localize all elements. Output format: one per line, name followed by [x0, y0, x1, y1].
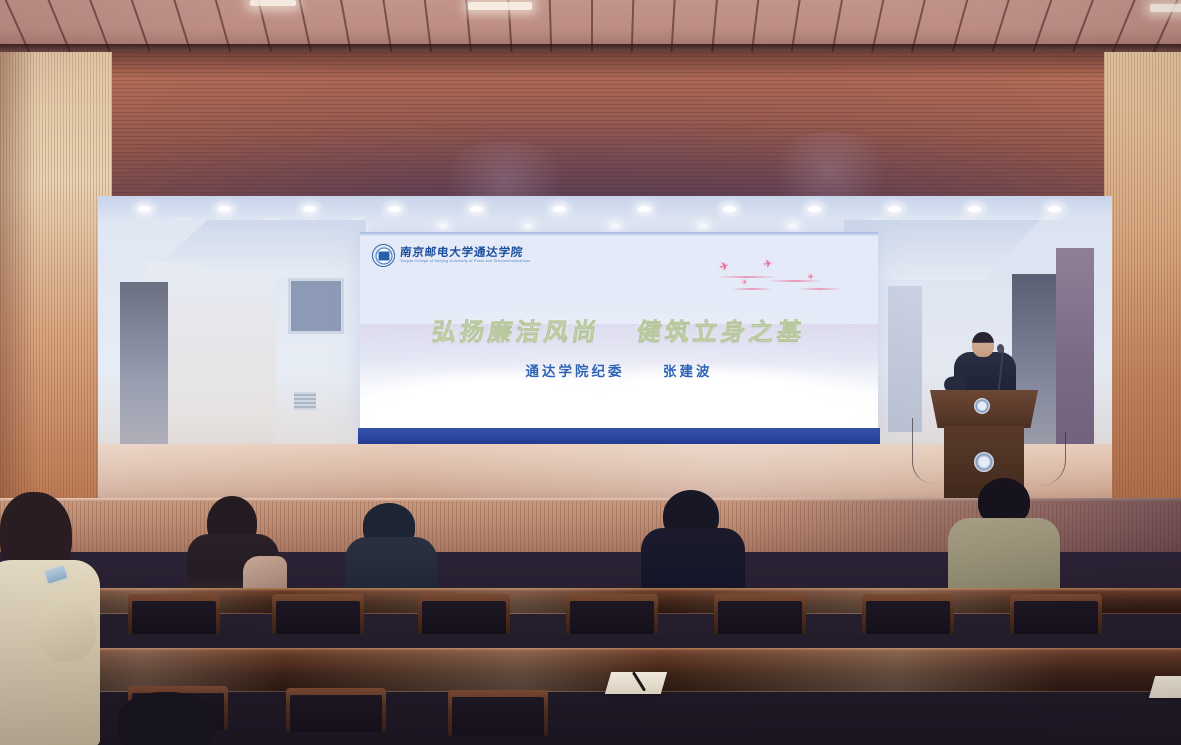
wood-rib [1146, 52, 1147, 522]
wall-groove [0, 180, 1181, 181]
ceiling-spotlight-icon [888, 206, 901, 212]
audio-cable [912, 418, 934, 484]
wood-rib [75, 52, 76, 522]
wall-groove [0, 156, 1181, 157]
wall-groove [0, 68, 1181, 69]
wood-rib [1155, 52, 1156, 522]
attendee-head [118, 692, 214, 745]
slide-institution-logo: 南京邮电大学通达学院 Tongda College of Nanjing Uni… [372, 244, 530, 267]
wood-rib [81, 52, 82, 522]
bird-icon: ✈ [763, 259, 773, 271]
ceiling-spotlight-icon [638, 206, 651, 212]
wood-rib [9, 52, 10, 522]
wall-groove [0, 88, 1181, 89]
wood-rib [0, 52, 1, 522]
podium-area [930, 330, 1040, 500]
wall-groove [0, 116, 1181, 117]
wood-rib [1116, 52, 1117, 522]
wood-rib [45, 52, 46, 522]
screen-base-band [358, 428, 880, 445]
bird-trail [768, 280, 822, 282]
wood-rib [1128, 52, 1129, 522]
wall-groove [0, 140, 1181, 141]
wood-rib [15, 52, 16, 522]
bird-trail [798, 288, 842, 290]
institution-name-en: Tongda College of Nanjing University of … [400, 260, 530, 264]
wood-rib [36, 52, 37, 522]
bird-trail [716, 276, 778, 278]
ceiling-spotlight-icon [470, 206, 483, 212]
wall-groove [0, 132, 1181, 133]
wall-groove [0, 92, 1181, 93]
auditorium-photo: 南京邮电大学通达学院 Tongda College of Nanjing Uni… [0, 0, 1181, 745]
seat-back [1010, 594, 1102, 634]
wood-rib [3, 52, 4, 522]
university-seal-icon [974, 452, 994, 472]
ceiling-spotlight-icon [303, 206, 316, 212]
wood-rib [1179, 52, 1180, 522]
recessed-light-icon [468, 2, 532, 10]
wood-rib [1119, 52, 1120, 522]
wall-groove [0, 188, 1181, 189]
wall-groove [0, 176, 1181, 177]
wood-rib [21, 52, 22, 522]
notebook [1149, 676, 1181, 698]
wall-groove [0, 192, 1181, 193]
ceiling-spotlight-icon [438, 224, 448, 229]
bird-trail [732, 288, 772, 290]
wall-groove [0, 112, 1181, 113]
wall-light-glow [430, 142, 580, 202]
wood-rib [1140, 52, 1141, 522]
wood-rib [51, 52, 52, 522]
wall-groove [0, 136, 1181, 137]
wall-groove [0, 152, 1181, 153]
university-seal-icon [372, 244, 395, 267]
ceiling-spotlight-icon [610, 224, 620, 229]
wood-rib [1113, 52, 1114, 522]
wall-groove [0, 60, 1181, 61]
flying-birds-icon: ✈✈✈✈ [712, 250, 852, 294]
wood-rib [48, 52, 49, 522]
wood-rib [33, 52, 34, 522]
ceiling-spotlight-icon [788, 224, 798, 229]
seat-back [714, 594, 806, 634]
wood-rib [1170, 52, 1171, 522]
wall-groove [0, 56, 1181, 57]
wood-rib [39, 52, 40, 522]
wood-rib [87, 52, 88, 522]
wood-rib [66, 52, 67, 522]
seat-back [272, 594, 364, 634]
left-wall-jamb [0, 52, 112, 522]
right-wall-jamb [1104, 52, 1181, 522]
slide-subtitle: 通达学院纪委 张建波 [360, 360, 878, 380]
ceiling-spotlight-icon [723, 206, 736, 212]
wood-rib [69, 52, 70, 522]
wood-rib [84, 52, 85, 522]
wood-rib [63, 52, 64, 522]
wood-rib [1164, 52, 1165, 522]
wall-groove [0, 168, 1181, 169]
seat-back [128, 594, 220, 634]
wall-groove [0, 120, 1181, 121]
wood-rib [96, 52, 97, 522]
bird-icon: ✈ [742, 280, 748, 286]
wood-rib [42, 52, 43, 522]
ceiling-spotlight-icon [808, 206, 821, 212]
wood-rib [30, 52, 31, 522]
wood-rib [1137, 52, 1138, 522]
institution-name-cn: 南京邮电大学通达学院 [399, 247, 531, 259]
ceiling-spotlight-icon [388, 206, 401, 212]
presenter-head [972, 332, 994, 357]
wall-groove [0, 72, 1181, 73]
wood-rib [90, 52, 91, 522]
wall-groove [0, 96, 1181, 97]
seat-back [566, 594, 658, 634]
attendee-arm [38, 600, 96, 662]
wood-rib [1149, 52, 1150, 522]
wood-rib [60, 52, 61, 522]
wood-rib [1173, 52, 1174, 522]
wall-groove [0, 108, 1181, 109]
projection-screen: 南京邮电大学通达学院 Tongda College of Nanjing Uni… [360, 232, 878, 432]
wall-groove [0, 164, 1181, 165]
microphone-icon [997, 344, 1004, 353]
ceiling-spotlight-icon [138, 206, 151, 212]
ceiling-spotlight-icon [698, 224, 708, 229]
wall-groove [0, 104, 1181, 105]
wall-groove [0, 76, 1181, 77]
bird-icon: ✈ [719, 261, 731, 274]
wood-rib [24, 52, 25, 522]
ceiling-spotlight-icon [553, 206, 566, 212]
wood-rib [57, 52, 58, 522]
ceiling-spotlight-icon [1048, 206, 1061, 212]
wood-rib [18, 52, 19, 522]
wall-groove [0, 52, 1181, 53]
wall-groove [0, 184, 1181, 185]
wall-groove [0, 124, 1181, 125]
wall-groove [0, 80, 1181, 81]
wall-groove [0, 100, 1181, 101]
seat-back [862, 594, 954, 634]
seat-back [286, 688, 386, 732]
wood-rib [54, 52, 55, 522]
wall-groove [0, 148, 1181, 149]
university-seal-icon [974, 398, 990, 414]
recessed-light-icon [1150, 4, 1181, 12]
wood-rib [27, 52, 28, 522]
wood-rib [1125, 52, 1126, 522]
ceiling-spotlight-icon [523, 224, 533, 229]
recessed-light-icon [250, 0, 296, 6]
ceiling-spotlight-icon [968, 206, 981, 212]
wood-rib [1134, 52, 1135, 522]
wood-rib [1152, 52, 1153, 522]
screen-top-band [360, 232, 878, 236]
wall-niche-icon [288, 278, 344, 334]
wall-groove [0, 84, 1181, 85]
wood-rib [12, 52, 13, 522]
seat-back [418, 594, 510, 634]
seat-back [448, 690, 548, 736]
wood-rib [1176, 52, 1177, 522]
wood-rib [1143, 52, 1144, 522]
wall-groove [0, 144, 1181, 145]
door-panel-light [888, 286, 922, 432]
wood-rib [1167, 52, 1168, 522]
wall-light-glow [760, 132, 900, 202]
ceiling-spotlight-icon [218, 206, 231, 212]
wall-groove [0, 172, 1181, 173]
wood-rib [78, 52, 79, 522]
wall-groove [0, 160, 1181, 161]
institution-names: 南京邮电大学通达学院 Tongda College of Nanjing Uni… [400, 247, 530, 264]
wood-rib [1131, 52, 1132, 522]
wall-groove [0, 128, 1181, 129]
upper-wall-wood-panel [0, 52, 1181, 202]
wood-rib [72, 52, 73, 522]
wood-rib [1122, 52, 1123, 522]
wood-rib [6, 52, 7, 522]
wall-groove [0, 64, 1181, 65]
wood-rib [93, 52, 94, 522]
wood-rib [1158, 52, 1159, 522]
air-vent-icon [294, 392, 316, 410]
wood-rib [1161, 52, 1162, 522]
slide-title: 弘扬廉洁风尚 健筑立身之基 [360, 312, 878, 347]
